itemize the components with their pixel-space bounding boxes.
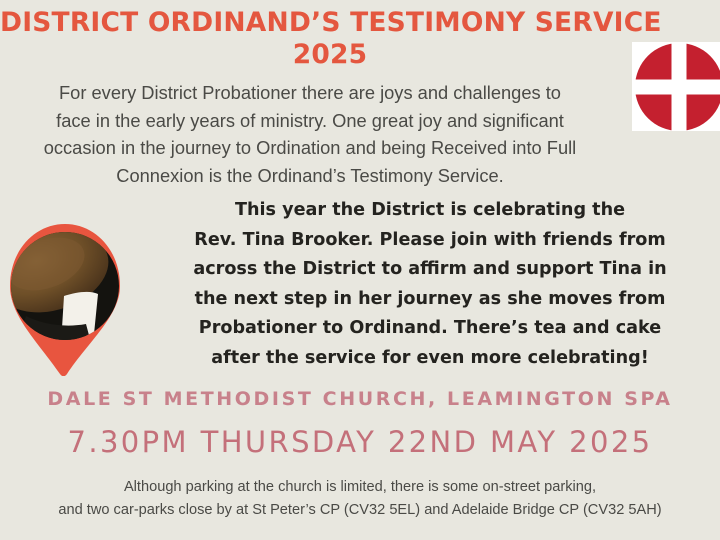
pin-svg: [2, 224, 132, 376]
event-datetime: 7.30PM THURSDAY 22ND MAY 2025: [0, 425, 720, 459]
event-venue: DALE ST METHODIST CHURCH, LEAMINGTON SPA: [0, 388, 720, 410]
intro-line: For every District Probationer there are…: [0, 79, 636, 107]
title-line-2: 2025: [0, 39, 660, 71]
intro-line: occasion in the journey to Ordination an…: [0, 134, 636, 162]
pin-photo: [2, 224, 132, 354]
title-line-1: DISTRICT ORDINAND’S TESTIMONY SERVICE: [0, 7, 660, 39]
intro-line: face in the early years of ministry. One…: [0, 107, 636, 135]
page-title: DISTRICT ORDINAND’S TESTIMONY SERVICE 20…: [0, 7, 660, 71]
highlight-line: the next step in her journey as she move…: [152, 285, 708, 315]
highlight-line: after the service for even more celebrat…: [152, 344, 708, 374]
highlight-line: Probationer to Ordinand. There’s tea and…: [152, 314, 708, 344]
highlight-paragraph: This year the District is celebrating th…: [152, 196, 708, 374]
poster-canvas: DISTRICT ORDINAND’S TESTIMONY SERVICE 20…: [0, 0, 720, 540]
intro-paragraph: For every District Probationer there are…: [0, 79, 636, 189]
ordinand-portrait-pin: [2, 224, 132, 376]
intro-line: Connexion is the Ordinand’s Testimony Se…: [0, 162, 636, 190]
highlight-line: across the District to affirm and suppor…: [152, 255, 708, 285]
parking-note: Although parking at the church is limite…: [0, 476, 720, 522]
parking-note-line: Although parking at the church is limite…: [0, 476, 720, 499]
highlight-line: Rev. Tina Brooker. Please join with frie…: [152, 226, 708, 256]
parking-note-line: and two car-parks close by at St Peter’s…: [0, 499, 720, 522]
highlight-line: This year the District is celebrating th…: [152, 196, 708, 226]
